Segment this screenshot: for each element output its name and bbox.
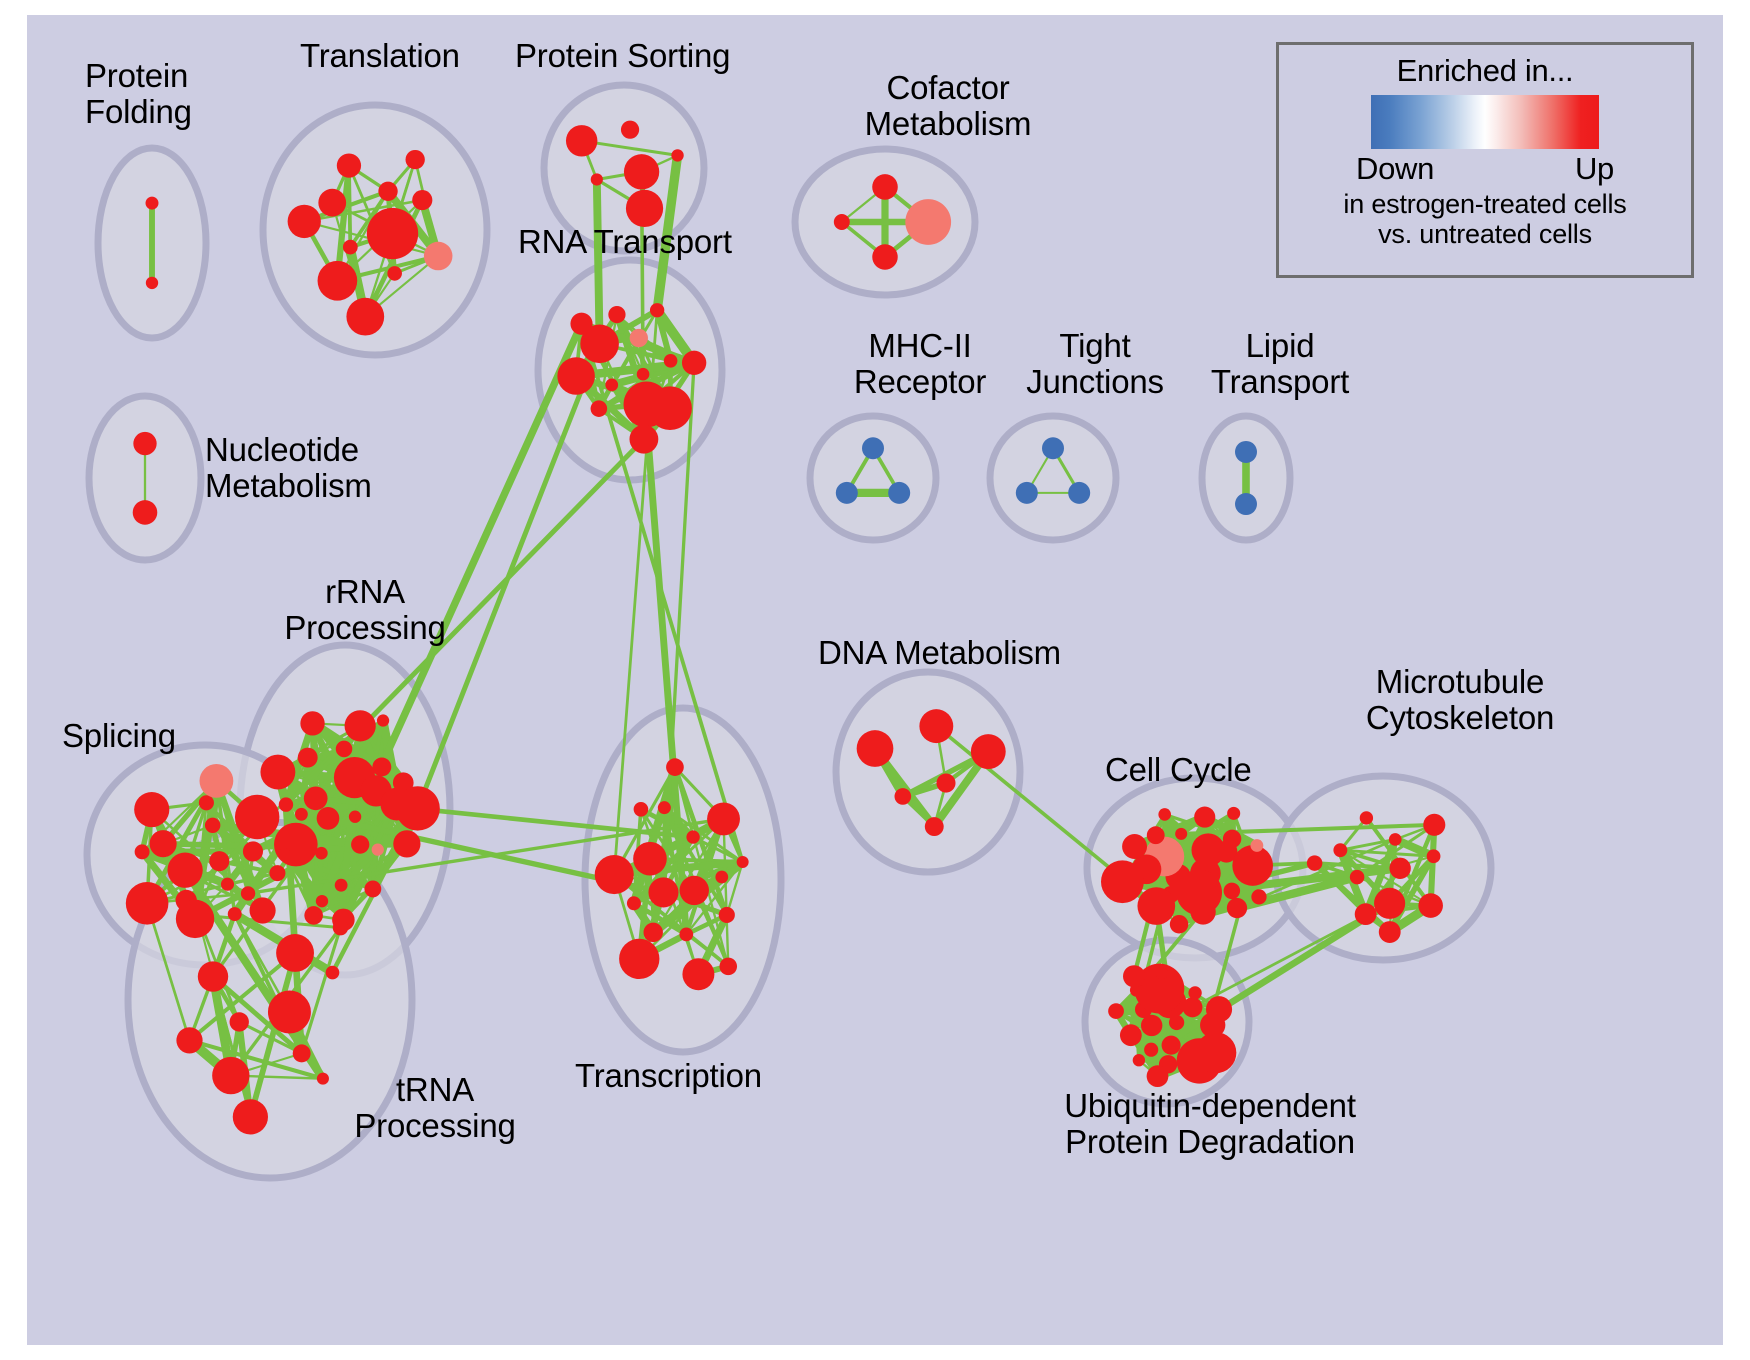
network-node [888,482,910,504]
network-node [1206,996,1232,1022]
cluster-label-dna-metabolism: DNA Metabolism [818,635,1118,671]
network-node [679,927,693,941]
network-node [626,190,663,227]
network-node [1108,1003,1124,1019]
cluster-label-protein-sorting: Protein Sorting [515,38,815,74]
network-node [1170,915,1189,934]
network-node [269,865,285,881]
network-node [278,848,291,861]
network-node [591,400,608,417]
network-node [364,881,381,898]
network-node [274,823,318,867]
network-node [1227,807,1240,820]
network-node [198,961,228,991]
network-node [650,303,664,317]
network-node [126,882,169,925]
network-node [346,298,384,336]
network-node [424,242,453,271]
network-node [872,174,898,200]
network-node [905,199,951,245]
network-node [1190,899,1215,924]
network-node [857,730,894,767]
network-node [1235,493,1257,515]
network-node [288,205,321,238]
network-node [1158,808,1171,821]
network-node [176,1027,202,1053]
legend-color-bar [1371,95,1599,149]
network-node [1251,889,1266,904]
network-node [591,173,603,185]
network-node [862,437,884,459]
network-node [1122,834,1147,859]
network-node [279,797,293,811]
network-node [298,748,318,768]
network-node [134,792,169,827]
network-node [895,788,912,805]
network-node [133,432,156,455]
network-node [1141,1015,1162,1036]
network-node [326,966,340,980]
network-node [233,1099,268,1134]
legend-subtitle-line-2: vs. untreated cells [1343,219,1626,249]
network-node [268,991,311,1034]
cluster-label-nucleotide-metabolism: Nucleotide Metabolism [205,432,465,503]
network-node [343,240,358,255]
network-node [719,907,735,923]
legend-high-label: Up [1575,151,1614,187]
cluster-label-rna-transport: RNA Transport [518,224,818,260]
network-node [1235,441,1257,463]
cluster-label-rrna-processing: rRNA Processing [250,574,480,645]
cluster-label-lipid-transport: Lipid Transport [1170,328,1390,399]
network-node [146,197,159,210]
network-node [349,811,361,823]
network-node [680,876,709,905]
network-node [378,182,397,201]
network-node [235,795,279,839]
network-node [199,795,214,810]
network-node [936,774,955,793]
cluster-hull-mhc-ii-receptor [810,416,936,540]
legend-endpoint-labels: Down Up [1356,151,1614,187]
network-node [1360,811,1373,824]
network-node [682,351,706,375]
network-node [608,306,625,323]
network-node [1307,855,1323,871]
network-node [719,958,737,976]
network-node [919,709,953,743]
network-node [189,907,205,923]
network-node [1423,814,1445,836]
cluster-label-microtubule-cytoskeleton: Microtubule Cytoskeleton [1300,664,1620,735]
network-node [630,329,648,347]
network-node [1224,883,1241,900]
network-node [336,741,353,758]
network-node [1251,839,1264,852]
network-node [664,354,678,368]
network-node [1144,1043,1158,1057]
cluster-label-trna-processing: tRNA Processing [320,1072,550,1143]
network-node [648,877,678,907]
network-node [648,386,692,430]
cluster-hull-tight-junctions [990,416,1116,540]
network-node [345,710,376,741]
network-node [205,818,220,833]
network-node [260,755,295,790]
network-node [634,802,649,817]
network-node [1133,1054,1145,1066]
network-node [150,830,177,857]
network-node [627,896,641,910]
network-node [396,786,440,830]
network-node [566,125,597,156]
network-node [393,830,420,857]
network-node [1223,830,1241,848]
network-node [228,907,242,921]
network-node [1147,826,1165,844]
network-node [318,261,358,301]
network-node [836,482,858,504]
network-node [167,853,202,888]
cluster-label-splicing: Splicing [62,718,262,754]
network-node [1068,482,1090,504]
legend-subtitle: in estrogen-treated cells vs. untreated … [1343,189,1626,249]
network-node [619,939,659,979]
network-node [304,786,328,810]
network-node [300,711,324,735]
network-node [367,208,418,259]
network-node [1232,845,1273,886]
network-node [243,841,263,861]
network-node [230,1012,249,1031]
network-node [250,897,276,923]
network-node [372,844,384,856]
network-node [1137,887,1175,925]
cluster-label-cofactor-metabolism: Cofactor Metabolism [818,70,1078,141]
network-node [1016,482,1038,504]
network-node [715,871,728,884]
network-node [737,856,749,868]
network-node [682,958,714,990]
network-node [1374,888,1405,919]
network-node [146,277,158,289]
network-node [1389,833,1402,846]
network-node [1101,860,1144,903]
network-node [570,313,592,335]
figure-canvas: Protein FoldingTranslationProtein Sortin… [0,0,1750,1360]
network-node [337,153,361,177]
network-node [351,835,369,853]
network-node [629,425,658,454]
network-node [637,368,650,381]
network-node [372,757,391,776]
network-node [135,844,150,859]
network-bridge-edge [597,179,600,343]
network-node [1427,849,1441,863]
network-node [1147,1065,1169,1087]
network-node [1389,858,1410,879]
network-node [1350,870,1365,885]
network-node [1162,1036,1181,1055]
network-node [335,879,348,892]
network-node [925,817,944,836]
legend-panel: Enriched in... Down Up in estrogen-treat… [1276,42,1694,278]
network-node [1227,898,1247,918]
network-node [209,851,229,871]
cluster-label-cell-cycle: Cell Cycle [1105,752,1325,788]
network-node [412,190,432,210]
network-node [1042,437,1064,459]
cluster-label-transcription: Transcription [575,1058,855,1094]
network-node [377,714,389,726]
network-node [834,214,850,230]
network-node [304,906,323,925]
network-node [644,923,663,942]
network-node [666,758,684,776]
network-node [1123,965,1145,987]
network-node [241,886,255,900]
network-node [1195,1032,1236,1073]
network-node [686,830,699,843]
network-node [316,895,328,907]
network-node [971,734,1006,769]
network-node [221,878,234,891]
network-node [1188,986,1201,999]
network-node [624,154,659,189]
network-node [212,1057,249,1094]
network-node [633,842,667,876]
network-node [605,379,618,392]
network-node [1194,807,1215,828]
network-node [1175,828,1187,840]
network-node [318,189,346,217]
network-node [621,121,639,139]
network-node [557,357,594,394]
network-node [707,802,740,835]
network-node [293,1044,311,1062]
legend-title: Enriched in... [1397,53,1574,89]
network-node [1379,921,1401,943]
network-node [595,855,634,894]
network-node [133,500,158,525]
cluster-label-protein-folding: Protein Folding [85,58,315,129]
legend-low-label: Down [1356,151,1434,187]
network-node [671,149,683,161]
network-node [1182,997,1202,1017]
network-node [1333,843,1347,857]
network-node [406,150,425,169]
network-node [200,764,234,798]
network-node [295,808,308,821]
network-node [1120,1024,1142,1046]
legend-subtitle-line-1: in estrogen-treated cells [1343,189,1626,219]
network-node [317,807,340,830]
network-node [1418,893,1443,918]
network-node [1355,903,1377,925]
network-node [276,934,314,972]
network-node [872,244,897,269]
network-node [658,801,671,814]
network-node [1155,967,1168,980]
network-node [387,266,402,281]
network-node [333,920,348,935]
cluster-label-ubiquitin-protein-degradation: Ubiquitin-dependent Protein Degradation [1000,1088,1420,1159]
